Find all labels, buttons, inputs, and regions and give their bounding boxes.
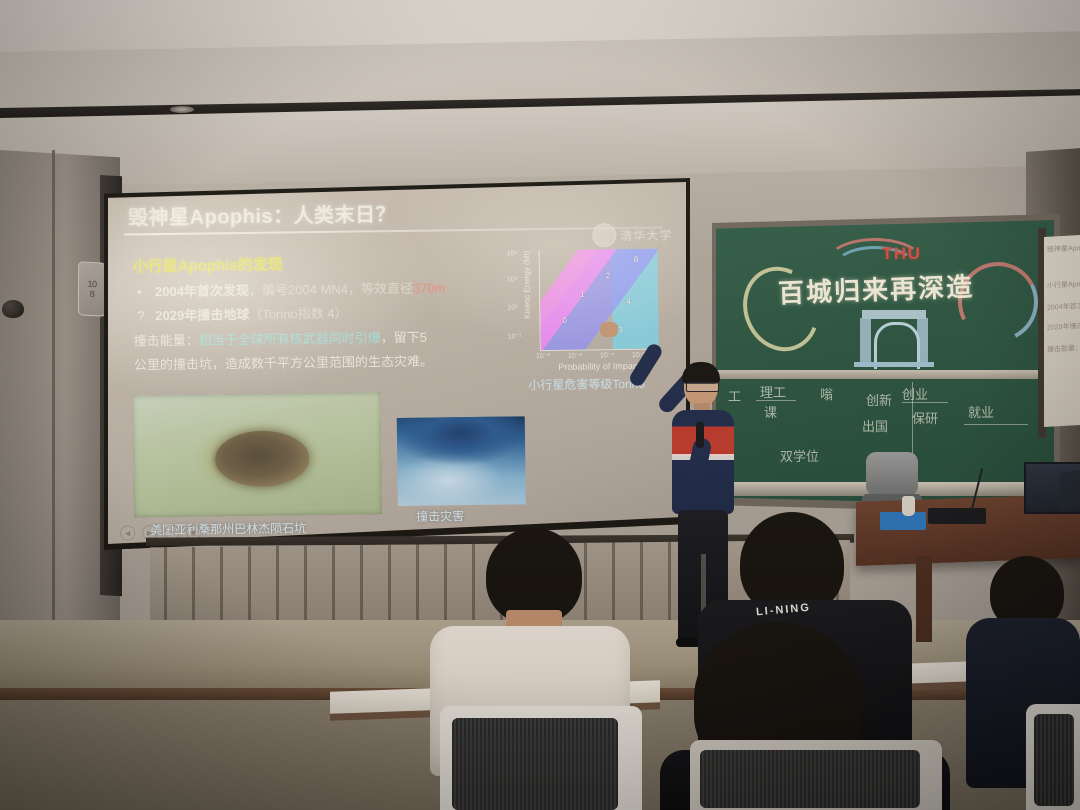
chart-x-tick: 10⁻⁶ <box>568 352 582 360</box>
chart-y-axis-label: Kinetic Energy (Mt) <box>522 237 532 333</box>
chalk-note: 出国 <box>862 416 888 435</box>
chalk-note: 双学位 <box>780 446 819 465</box>
chart-y-tick: 10¹ <box>507 304 517 311</box>
chart-plot-area: 8 4 2 1 0 3 <box>539 249 659 352</box>
left-wall-seam <box>52 150 55 670</box>
gate-base <box>854 362 934 367</box>
paragraph-line-1-tail: ，留下5 <box>381 330 427 346</box>
presentation-slide: 毁神星Apophis：人类末日？ 清华大学 小行星Apophis的发现 •200… <box>108 182 686 544</box>
lecture-hall-photo: 10 8 毁神星Apophis：人类末日？ 清华大学 小行星Apophis的发现… <box>0 0 1080 810</box>
chair-backrest <box>866 452 918 496</box>
slide-title: 毁神星Apophis：人类末日？ <box>128 198 396 231</box>
chalk-artwork: THU 百城归来再深造 <box>740 236 1030 366</box>
chalk-note: 就业 <box>968 402 994 421</box>
handheld-microphone-icon <box>696 422 704 448</box>
chart-region-level-1 <box>540 249 659 351</box>
seat-mesh <box>1034 714 1074 806</box>
chalk-note: 保研 <box>912 408 938 427</box>
side-display-line: 撞击能量： <box>1047 343 1080 355</box>
chalk-note: 创业 <box>902 384 928 403</box>
crater-photo <box>132 392 382 517</box>
side-display-line: 2029年撞击地球 <box>1047 320 1080 333</box>
slide-bullet-1: •2004年首次发现，编号2004 MN4，等效直径370m <box>137 277 446 300</box>
lectern-laptop[interactable] <box>1060 470 1080 510</box>
ceiling-spotlight <box>170 106 194 113</box>
chalk-underline <box>964 424 1028 425</box>
slide-paragraph-line-2: 公里的撞击坑，造成数千平方公里范围的生态灾难。 <box>134 352 433 376</box>
earth-photo-caption: 撞击灾害 <box>416 507 464 525</box>
bullet-marker: • <box>137 284 155 299</box>
slide-bullet-2: ?2029年撞击地球（Torino指数 4） <box>137 303 347 325</box>
presenter-hair <box>682 362 720 384</box>
bullet-1-bold: 2004年首次发现 <box>155 283 249 299</box>
chart-caption: 小行星危害等级Torino <box>528 375 645 394</box>
gate-column <box>860 318 871 366</box>
chart-cell-number: 4 <box>626 297 631 306</box>
thu-logo-text: THU <box>882 244 921 264</box>
chart-cell-number: 3 <box>619 325 624 334</box>
glasses-icon <box>686 382 719 392</box>
paragraph-highlight: 相当于全球所有核武器同时引爆 <box>199 330 381 347</box>
ceiling-camera-icon <box>2 300 24 318</box>
paragraph-label: 撞击能量： <box>134 333 199 349</box>
bullet-1-highlight: 370m <box>413 280 446 295</box>
university-name: 清华大学 <box>620 226 672 244</box>
blackboard-divider-shelf <box>716 370 1054 379</box>
bullet-2-bold: 2029年撞击地球 <box>155 307 249 323</box>
black-console <box>928 508 986 524</box>
chart-cell-number: 0 <box>562 316 567 325</box>
chart-cell-number: 1 <box>580 290 585 299</box>
plaque-line-2: 8 <box>90 289 95 300</box>
chalk-note: 课 <box>764 402 777 421</box>
audience-seat-left[interactable] <box>440 706 630 810</box>
bullet-2-rest: （Torino指数 4） <box>249 306 347 322</box>
bullet-marker: ? <box>137 308 155 323</box>
chart-y-tick: 10⁻¹ <box>508 332 522 340</box>
audience-seat-center[interactable] <box>690 740 930 810</box>
audience-seat-right[interactable] <box>1026 704 1080 810</box>
crater-rim <box>215 430 310 487</box>
bullet-1-rest: ，编号2004 MN4，等效直径 <box>249 281 413 298</box>
tsinghua-seal-icon <box>592 223 616 247</box>
chart-cell-number: 2 <box>606 271 611 280</box>
chalk-note: 创新 <box>866 390 892 409</box>
side-display-title: 毁神星Apophis：人类末日？ <box>1047 240 1080 255</box>
blackboard-upper-panel: THU 百城归来再深造 <box>716 220 1054 372</box>
side-display-heading: 小行星Apophis的发现 <box>1047 277 1080 291</box>
chart-y-tick: 10³ <box>507 276 517 283</box>
side-display-line: 2004年首次发现 <box>1047 300 1080 313</box>
tsinghua-gate-drawing <box>848 304 940 366</box>
chart-y-tick: 10⁵ <box>507 250 518 257</box>
ppt-prev-icon[interactable]: ◀ <box>120 525 135 540</box>
chalk-vertical-rule <box>912 382 913 460</box>
side-display[interactable]: 毁神星Apophis：人类末日？ 小行星Apophis的发现 2004年首次发现… <box>1044 235 1080 427</box>
seat-mesh <box>700 750 920 808</box>
chalk-underline <box>902 402 948 403</box>
chart-x-tick: 10⁻⁸ <box>536 352 551 360</box>
chalk-note: 嗡 <box>820 384 833 403</box>
wall-plaque: 10 8 <box>78 261 106 316</box>
presenter-pointing-hand <box>600 322 618 337</box>
chart-x-tick: 10⁻⁴ <box>600 351 615 359</box>
plaque-line-1: 10 <box>87 278 96 289</box>
seat-mesh <box>452 718 618 810</box>
slide-paragraph-line-1: 撞击能量：相当于全球所有核武器同时引爆，留下5 <box>134 328 428 352</box>
chart-cell-number: 8 <box>634 255 639 264</box>
chalk-note: 理工 <box>760 382 786 401</box>
projection-screen[interactable]: 毁神星Apophis：人类末日？ 清华大学 小行星Apophis的发现 •200… <box>108 182 686 544</box>
chalk-underline <box>756 400 796 401</box>
earth-impact-photo <box>397 416 526 506</box>
slide-section-heading: 小行星Apophis的发现 <box>133 253 283 276</box>
